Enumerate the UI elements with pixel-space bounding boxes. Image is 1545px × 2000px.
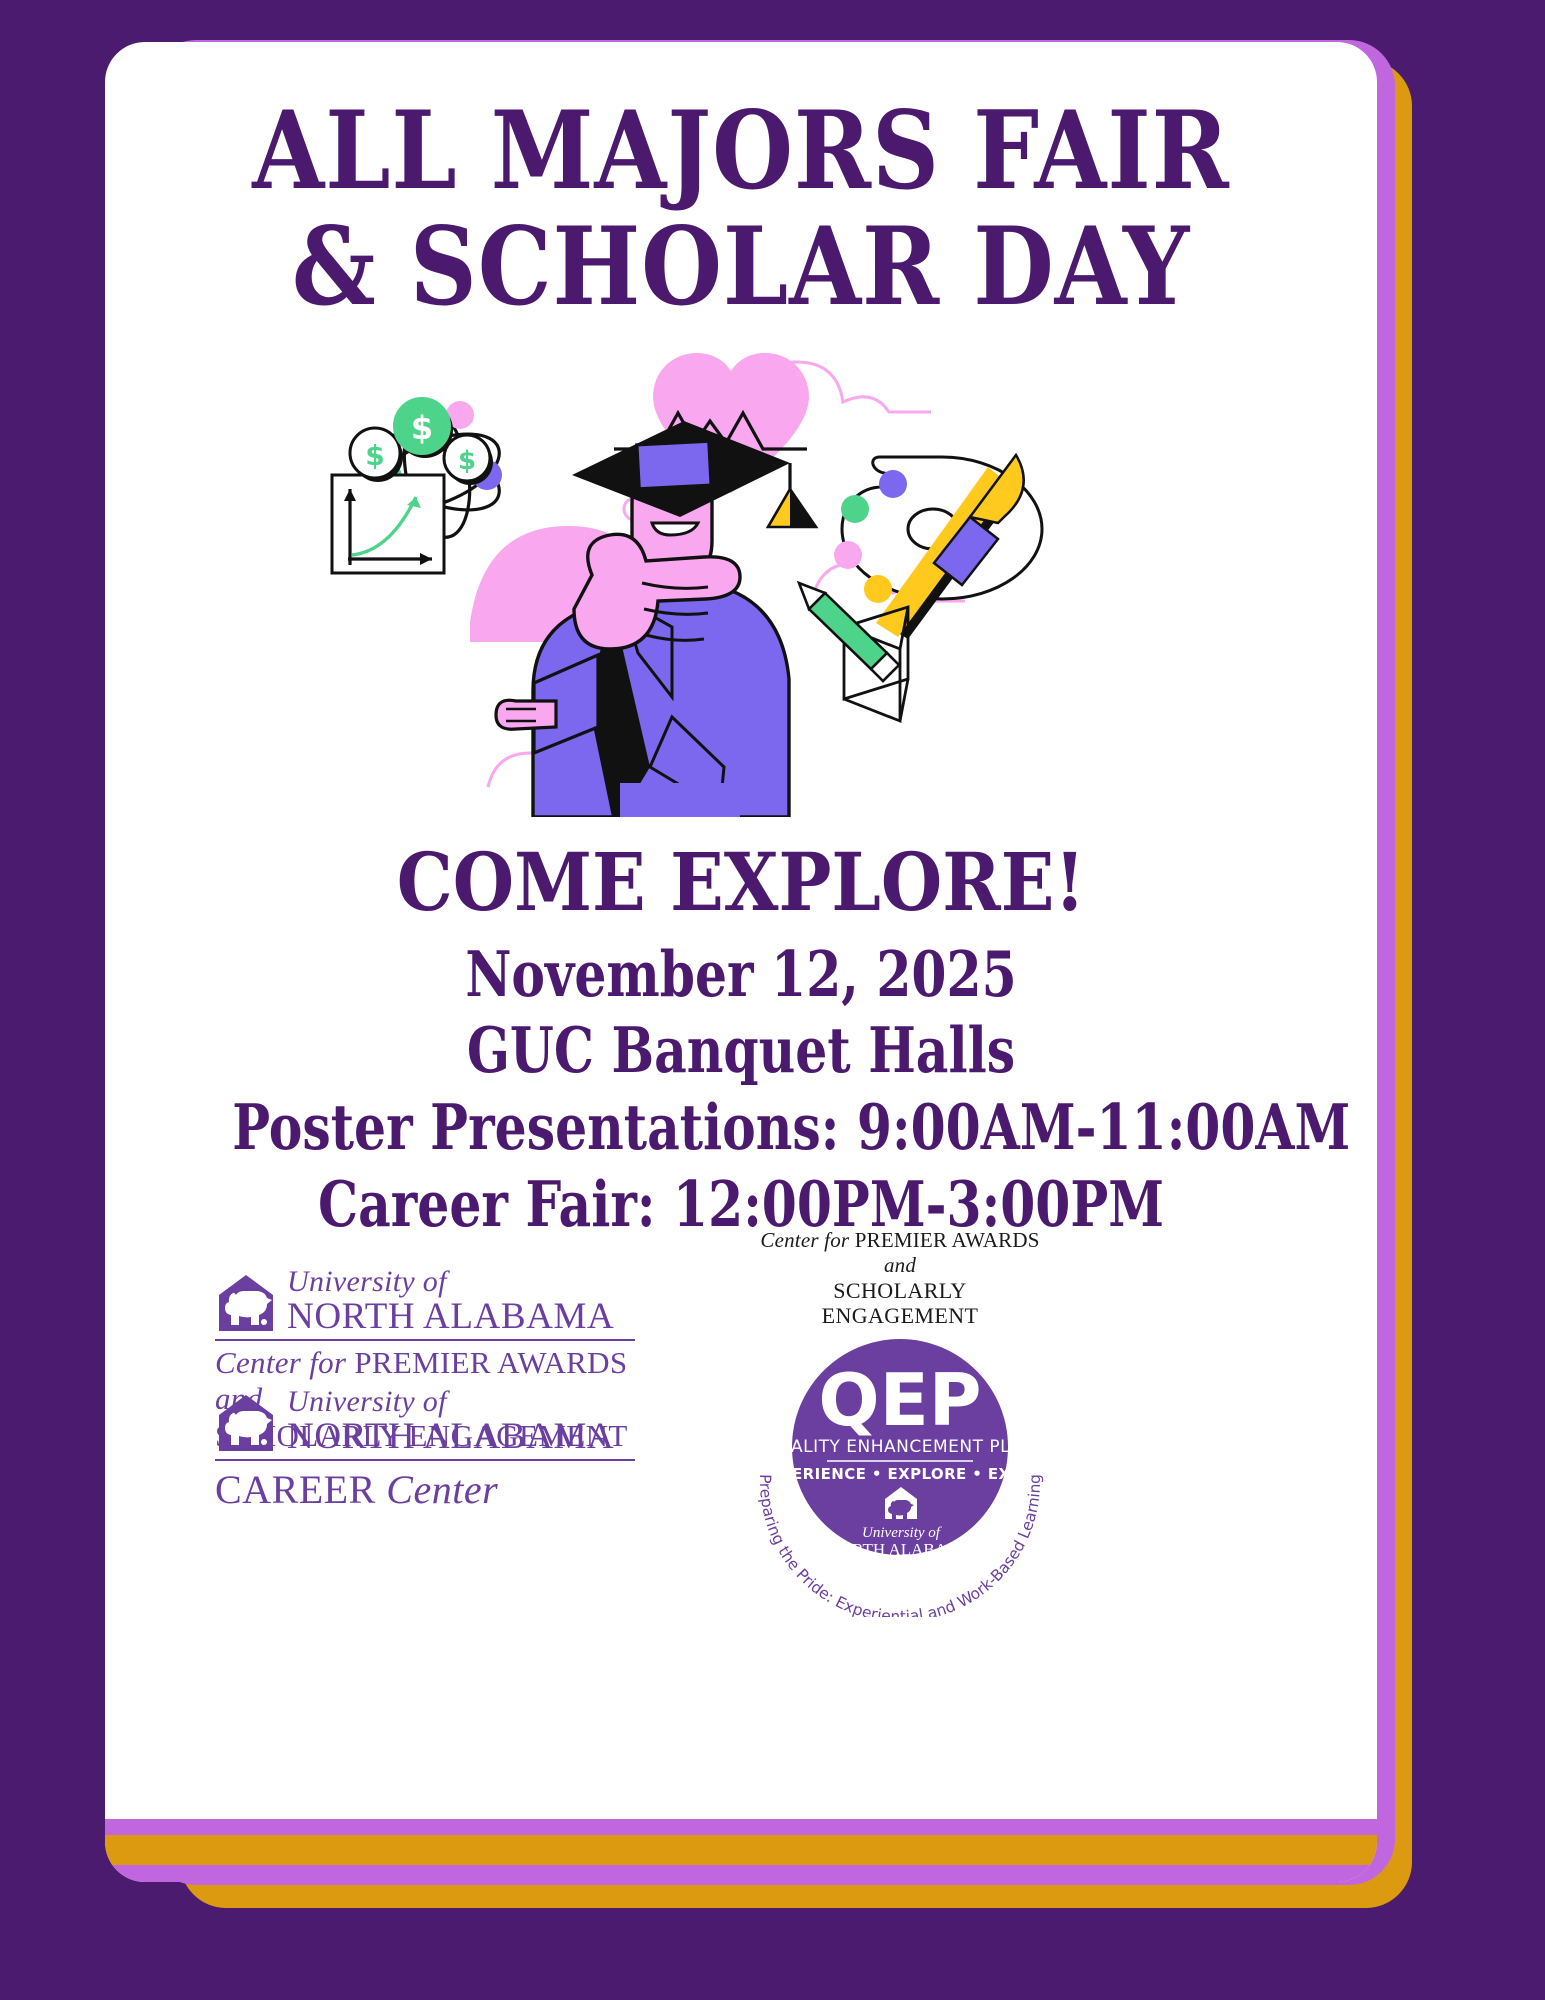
una-north-alabama: NORTH ALABAMA [287,1418,614,1455]
svg-text:$: $ [365,439,384,472]
poster-white-card: ALL MAJORS FAIR & SCHOLAR DAY [105,42,1377,1882]
student-illustration: $ $ $ [320,297,1150,817]
career-word: CAREER [215,1467,376,1512]
svg-text:$: $ [458,446,476,476]
cpase-center-for: Center for [215,1345,346,1380]
center-word: Center [386,1467,498,1512]
bottom-stripe-gold [105,1835,1377,1865]
qep-north-alabama: NORTH ALABAMA [828,1540,976,1559]
una-divider-rule [215,1339,635,1341]
bottom-stripe-lavender-bottom [105,1865,1377,1882]
poster: ALL MAJORS FAIR & SCHOLAR DAY [0,0,1545,2000]
qep-full-name: QUALITY ENHANCEMENT PLAN [764,1437,1036,1457]
career-fair-times: Career Fair: 12:00PM-3:00PM [232,1166,1250,1243]
event-date: November 12, 2025 [232,936,1250,1013]
una-university-of: University of [287,1267,614,1297]
una-university-of: University of [287,1387,614,1417]
qep-university-of: University of [862,1525,942,1541]
svg-text:$: $ [411,409,433,447]
cpase-premier-awards: PREMIER AWARDS [354,1345,627,1380]
cpase-black-center-for: Center for [760,1228,849,1252]
qep-seal: QEP QUALITY ENHANCEMENT PLAN EXPERIENCE … [745,1297,1055,1617]
headline: COME EXPLORE! [181,842,1300,924]
cpase-black-premier-awards: PREMIER AWARDS [855,1228,1040,1252]
una-divider-rule [215,1459,635,1461]
qep-tagline: EXPERIENCE • EXPLORE • EXCEL [758,1465,1042,1483]
poster-presentation-times: Poster Presentations: 9:00AM-11:00AM [232,1089,1250,1166]
una-north-alabama: NORTH ALABAMA [287,1298,614,1335]
career-center-label: CAREER Center [215,1466,635,1513]
event-details: COME EXPLORE! November 12, 2025 GUC Banq… [105,842,1377,1243]
qep-acronym: QEP [818,1358,981,1442]
growth-chart-icon [332,475,444,573]
una-lion-shield-icon [215,1273,277,1335]
event-venue: GUC Banquet Halls [232,1012,1250,1089]
title-line-1: ALL MAJORS FAIR [194,97,1288,205]
cpase-black-and: and [884,1253,916,1277]
bottom-stripe-lavender-top [105,1819,1377,1835]
poster-title: ALL MAJORS FAIR & SCHOLAR DAY [105,97,1377,321]
una-career-center-logo: University of NORTH ALABAMA CAREER Cente… [215,1387,635,1513]
una-lion-shield-icon [215,1393,277,1455]
